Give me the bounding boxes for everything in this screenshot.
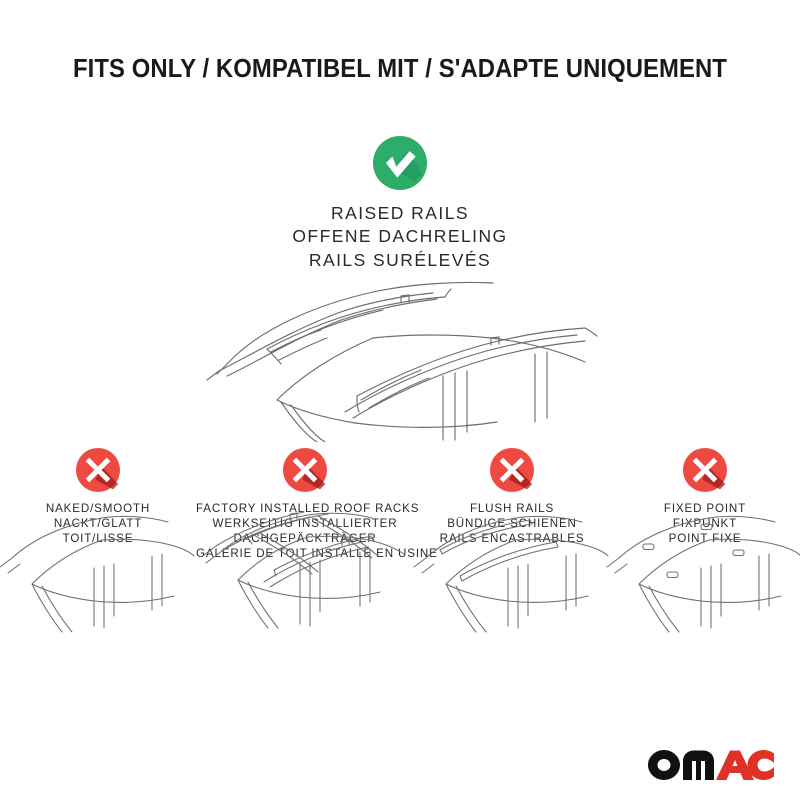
option-flush-rails: FLUSH RAILS BÜNDIGE SCHIENEN RAILS ENCAS… <box>414 448 610 561</box>
label-line-fr: RAILS SURÉLEVÉS <box>0 249 800 272</box>
incompatible-options-row: NAKED/SMOOTH NACKT/GLATT TOIT/LISSE <box>0 448 800 561</box>
label-line-en: RAISED RAILS <box>0 202 800 225</box>
compatible-option-block: RAISED RAILS OFFENE DACHRELING RAILS SUR… <box>0 136 800 272</box>
check-circle-icon <box>373 136 427 190</box>
car-roof-with-fixed-points-illustration <box>605 506 800 661</box>
x-circle-icon <box>76 448 120 492</box>
option-naked-smooth: NAKED/SMOOTH NACKT/GLATT TOIT/LISSE <box>0 448 196 561</box>
compatible-option-label: RAISED RAILS OFFENE DACHRELING RAILS SUR… <box>0 202 800 272</box>
option-factory-installed-roof-racks: FACTORY INSTALLED ROOF RACKS WERKSEITIG … <box>196 448 414 561</box>
page-title: FITS ONLY / KOMPATIBEL MIT / S'ADAPTE UN… <box>26 55 774 84</box>
car-roof-with-raised-rails-illustration <box>205 272 605 442</box>
option-fixed-point: FIXED POINT FIXPUNKT POINT FIXE <box>610 448 800 561</box>
x-circle-icon <box>283 448 327 492</box>
car-roof-with-flush-rails-illustration <box>412 506 612 661</box>
omac-logo <box>648 748 774 782</box>
x-circle-icon <box>490 448 534 492</box>
car-roof-with-factory-crossbars-illustration <box>200 504 410 659</box>
x-circle-icon <box>683 448 727 492</box>
car-roof-naked-smooth-illustration <box>0 506 198 661</box>
label-line-de: OFFENE DACHRELING <box>0 225 800 248</box>
